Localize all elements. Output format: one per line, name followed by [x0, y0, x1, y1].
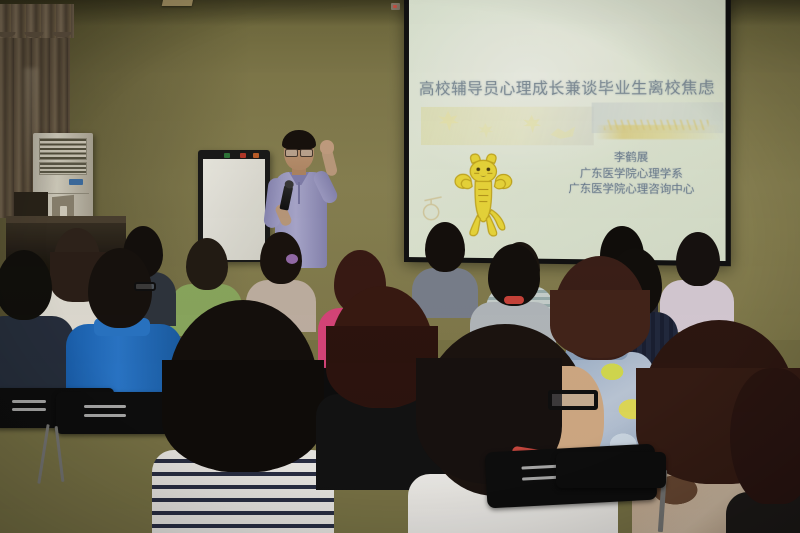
- attendee-striped-shirt: [152, 300, 334, 533]
- affiliation-line-2: 广东医学院心理咨询中心: [538, 181, 725, 198]
- ac-vent-grill: [39, 138, 87, 160]
- affiliation-line-1: 广东医学院心理学系: [538, 165, 725, 182]
- curtain-valance: [0, 4, 74, 38]
- attendee-navy-shirt: [0, 250, 74, 410]
- band-leaf-section: [421, 107, 594, 146]
- attendee-long-hair-right: [726, 368, 800, 533]
- slide-decorative-band: [421, 106, 723, 145]
- glasses-icon: [285, 149, 313, 155]
- ac-vent-grill-lower: [39, 162, 87, 175]
- chair-leg: [55, 426, 65, 482]
- ac-badge: [69, 179, 83, 185]
- marker-red-icon: [240, 153, 246, 158]
- lecture-hall-photo: 高校辅导员心理成长兼谈毕业生离校焦虑: [0, 0, 800, 533]
- slide-title: 高校辅导员心理成长兼谈毕业生离校焦虑: [409, 75, 726, 99]
- presenter-right-hand: [320, 140, 334, 154]
- chair-leg: [37, 424, 49, 484]
- presenter-hair: [282, 130, 316, 150]
- slide-subtitle-block: 李鹤展 广东医学院心理学系 广东医学院心理咨询中心: [538, 149, 725, 197]
- table-top: [6, 216, 126, 223]
- grass-stroke-graphic: [596, 125, 722, 139]
- indicator-light-icon: [391, 3, 400, 10]
- presenter-name: 李鹤展: [538, 149, 725, 165]
- marker-green-icon: [224, 153, 230, 158]
- glasses-icon: [134, 282, 156, 291]
- glasses-icon: [548, 390, 598, 410]
- chair-back: [556, 452, 666, 488]
- ceiling-fixture: [162, 0, 195, 6]
- presenter-placket: [298, 182, 300, 204]
- cardboard-box: [14, 192, 48, 218]
